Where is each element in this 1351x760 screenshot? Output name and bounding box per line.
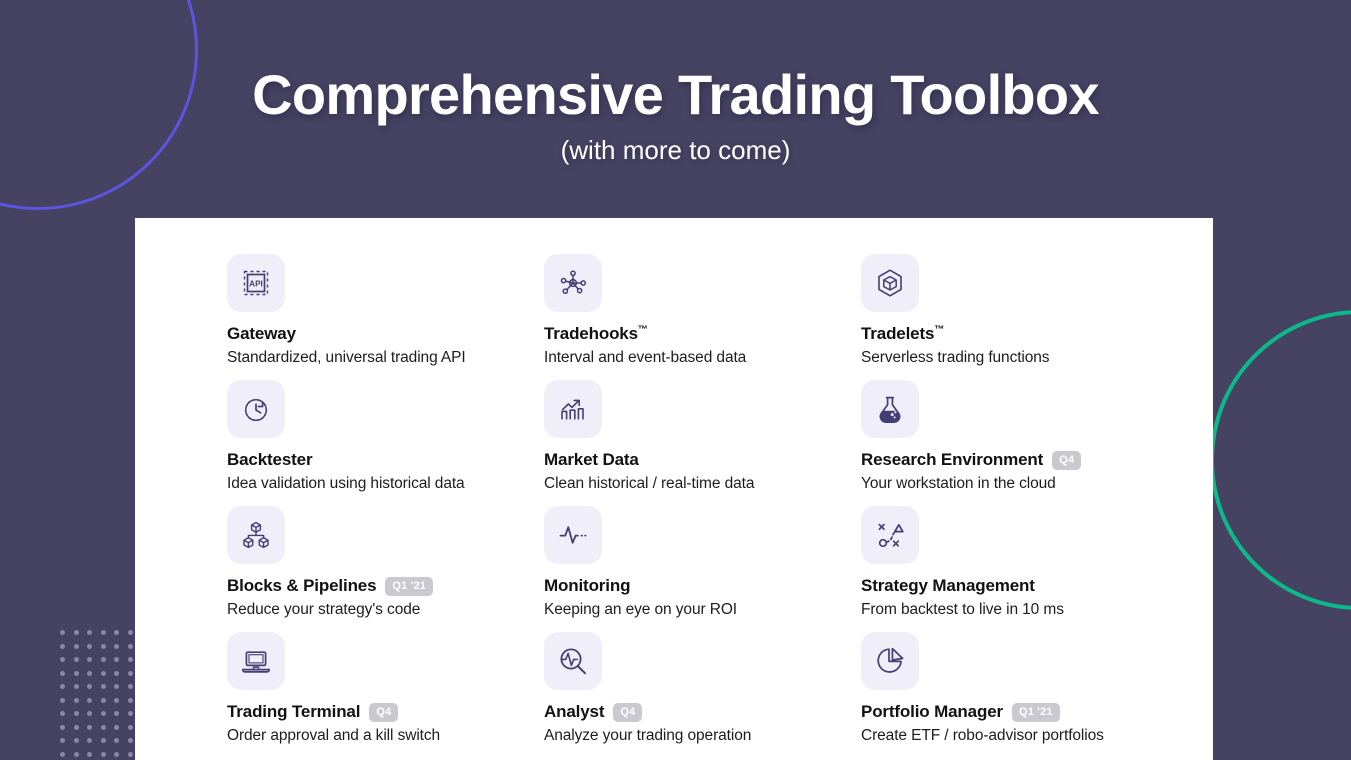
dot xyxy=(128,738,133,743)
dot xyxy=(128,725,133,730)
status-badge: Q1 '21 xyxy=(385,577,433,596)
feature-card[interactable]: APIGatewayStandardized, universal tradin… xyxy=(227,254,544,380)
svg-text:API: API xyxy=(249,279,263,288)
dot xyxy=(101,752,106,757)
card-description: From backtest to live in 10 ms xyxy=(861,601,1178,619)
card-title: Strategy Management xyxy=(861,576,1035,596)
dot xyxy=(60,711,65,716)
dot xyxy=(128,698,133,703)
dot xyxy=(114,671,119,676)
card-description: Keeping an eye on your ROI xyxy=(544,601,861,619)
dot xyxy=(87,657,92,662)
feature-card[interactable]: AnalystQ4Analyze your trading operation xyxy=(544,632,861,758)
card-description: Analyze your trading operation xyxy=(544,727,861,745)
feature-card[interactable]: Strategy ManagementFrom backtest to live… xyxy=(861,506,1178,632)
card-title: Tradelets™ xyxy=(861,324,944,344)
dot xyxy=(60,738,65,743)
circle-outline-teal-decoration xyxy=(1210,310,1351,610)
card-title-row: Strategy Management xyxy=(861,576,1178,596)
magnifier-pulse-icon xyxy=(544,632,602,690)
card-title: Backtester xyxy=(227,450,312,470)
dot xyxy=(60,725,65,730)
feature-card[interactable]: Portfolio ManagerQ1 '21Create ETF / robo… xyxy=(861,632,1178,758)
dot xyxy=(87,711,92,716)
dot xyxy=(114,738,119,743)
dot xyxy=(114,725,119,730)
dot xyxy=(101,725,106,730)
dot-grid-decoration xyxy=(60,630,141,760)
dot xyxy=(114,630,119,635)
dot xyxy=(87,752,92,757)
slide-root: Comprehensive Trading Toolbox (with more… xyxy=(0,0,1351,760)
dot xyxy=(87,630,92,635)
network-nodes-icon xyxy=(544,254,602,312)
dot xyxy=(74,657,79,662)
page-subtitle: (with more to come) xyxy=(0,135,1351,166)
card-title: Gateway xyxy=(227,324,296,344)
feature-card-grid: APIGatewayStandardized, universal tradin… xyxy=(227,254,1177,758)
dot xyxy=(114,657,119,662)
dot xyxy=(60,644,65,649)
feature-card[interactable]: Tradehooks™Interval and event-based data xyxy=(544,254,861,380)
dot xyxy=(74,711,79,716)
card-title-row: Gateway xyxy=(227,324,544,344)
bar-chart-arrow-icon xyxy=(544,380,602,438)
card-title: Research Environment xyxy=(861,450,1043,470)
card-title-row: Tradelets™ xyxy=(861,324,1178,344)
dot xyxy=(101,657,106,662)
dot xyxy=(114,711,119,716)
feature-card[interactable]: Market DataClean historical / real-time … xyxy=(544,380,861,506)
dot xyxy=(114,752,119,757)
dot xyxy=(128,644,133,649)
header: Comprehensive Trading Toolbox (with more… xyxy=(0,0,1351,166)
dot xyxy=(60,752,65,757)
dot xyxy=(74,725,79,730)
dot xyxy=(101,738,106,743)
status-badge: Q4 xyxy=(369,703,398,722)
dot xyxy=(114,698,119,703)
dot xyxy=(114,644,119,649)
dot xyxy=(101,630,106,635)
page-title: Comprehensive Trading Toolbox xyxy=(0,64,1351,127)
card-title-row: Market Data xyxy=(544,450,861,470)
card-description: Interval and event-based data xyxy=(544,349,861,367)
dot xyxy=(87,738,92,743)
pulse-line-icon xyxy=(544,506,602,564)
card-description: Clean historical / real-time data xyxy=(544,475,861,493)
card-title: Analyst xyxy=(544,702,604,722)
dot xyxy=(87,725,92,730)
trademark-symbol: ™ xyxy=(934,324,944,335)
dot xyxy=(101,698,106,703)
status-badge: Q1 '21 xyxy=(1012,703,1060,722)
dot xyxy=(60,698,65,703)
card-title-row: Portfolio ManagerQ1 '21 xyxy=(861,702,1178,722)
card-description: Create ETF / robo-advisor portfolios xyxy=(861,727,1178,745)
dot xyxy=(128,671,133,676)
dot xyxy=(74,630,79,635)
dot xyxy=(87,684,92,689)
dot xyxy=(74,684,79,689)
card-title-row: Blocks & PipelinesQ1 '21 xyxy=(227,576,544,596)
status-badge: Q4 xyxy=(1052,451,1081,470)
content-panel: APIGatewayStandardized, universal tradin… xyxy=(135,218,1213,760)
tactics-board-icon xyxy=(861,506,919,564)
dot xyxy=(74,698,79,703)
card-title-row: Backtester xyxy=(227,450,544,470)
feature-card[interactable]: Tradelets™Serverless trading functions xyxy=(861,254,1178,380)
dot xyxy=(87,644,92,649)
card-title: Blocks & Pipelines xyxy=(227,576,376,596)
dot xyxy=(87,671,92,676)
card-title: Monitoring xyxy=(544,576,630,596)
card-title-row: Monitoring xyxy=(544,576,861,596)
card-description: Your workstation in the cloud xyxy=(861,475,1178,493)
dot xyxy=(114,684,119,689)
feature-card[interactable]: Trading TerminalQ4Order approval and a k… xyxy=(227,632,544,758)
feature-card[interactable]: BacktesterIdea validation using historic… xyxy=(227,380,544,506)
dot xyxy=(60,684,65,689)
feature-card[interactable]: Blocks & PipelinesQ1 '21Reduce your stra… xyxy=(227,506,544,632)
dot xyxy=(74,671,79,676)
dot xyxy=(128,684,133,689)
trademark-symbol: ™ xyxy=(638,324,648,335)
feature-card[interactable]: Research EnvironmentQ4Your workstation i… xyxy=(861,380,1178,506)
dot xyxy=(60,671,65,676)
dot xyxy=(60,657,65,662)
dot xyxy=(74,738,79,743)
dot xyxy=(101,684,106,689)
dot xyxy=(87,698,92,703)
pie-chart-icon xyxy=(861,632,919,690)
dot xyxy=(74,752,79,757)
dot xyxy=(101,671,106,676)
card-title: Tradehooks™ xyxy=(544,324,648,344)
dot xyxy=(60,630,65,635)
dot xyxy=(128,630,133,635)
card-title: Market Data xyxy=(544,450,639,470)
clock-rewind-icon xyxy=(227,380,285,438)
card-description: Reduce your strategy's code xyxy=(227,601,544,619)
card-description: Order approval and a kill switch xyxy=(227,727,544,745)
card-description: Serverless trading functions xyxy=(861,349,1178,367)
card-title-row: Trading TerminalQ4 xyxy=(227,702,544,722)
lab-flask-icon xyxy=(861,380,919,438)
card-title-row: Tradehooks™ xyxy=(544,324,861,344)
card-title: Portfolio Manager xyxy=(861,702,1003,722)
dot xyxy=(128,657,133,662)
dot xyxy=(128,752,133,757)
card-title-row: Research EnvironmentQ4 xyxy=(861,450,1178,470)
dot xyxy=(74,644,79,649)
card-description: Standardized, universal trading API xyxy=(227,349,544,367)
hexagon-cube-icon xyxy=(861,254,919,312)
laptop-icon xyxy=(227,632,285,690)
blocks-pipeline-icon xyxy=(227,506,285,564)
dot xyxy=(101,644,106,649)
api-square-icon: API xyxy=(227,254,285,312)
status-badge: Q4 xyxy=(613,703,642,722)
card-title: Trading Terminal xyxy=(227,702,360,722)
card-title-row: AnalystQ4 xyxy=(544,702,861,722)
card-description: Idea validation using historical data xyxy=(227,475,544,493)
feature-card[interactable]: MonitoringKeeping an eye on your ROI xyxy=(544,506,861,632)
dot xyxy=(128,711,133,716)
dot xyxy=(101,711,106,716)
